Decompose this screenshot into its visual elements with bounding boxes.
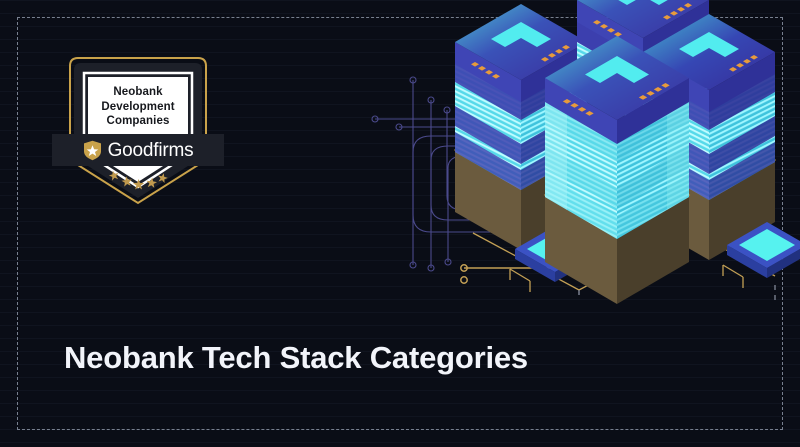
badge-title-line-3: Companies bbox=[62, 114, 214, 129]
badge-shape bbox=[62, 54, 214, 207]
goodfirms-brand-name: Goodfirms bbox=[108, 141, 194, 160]
badge-title-line-2: Development bbox=[62, 100, 214, 115]
shield-star-icon bbox=[83, 140, 102, 161]
poster-canvas: Neobank Development Companies Goodfirms … bbox=[0, 0, 800, 447]
page-title: Neobank Tech Stack Categories bbox=[64, 339, 528, 377]
goodfirms-brand-bar: Goodfirms bbox=[52, 134, 224, 166]
server-rack-front-center bbox=[545, 36, 689, 304]
badge-title: Neobank Development Companies bbox=[62, 85, 214, 129]
badge-title-line-1: Neobank bbox=[62, 85, 214, 100]
isometric-data-center-illustration bbox=[355, 0, 800, 320]
goodfirms-award-badge: Neobank Development Companies Goodfirms bbox=[62, 54, 214, 207]
